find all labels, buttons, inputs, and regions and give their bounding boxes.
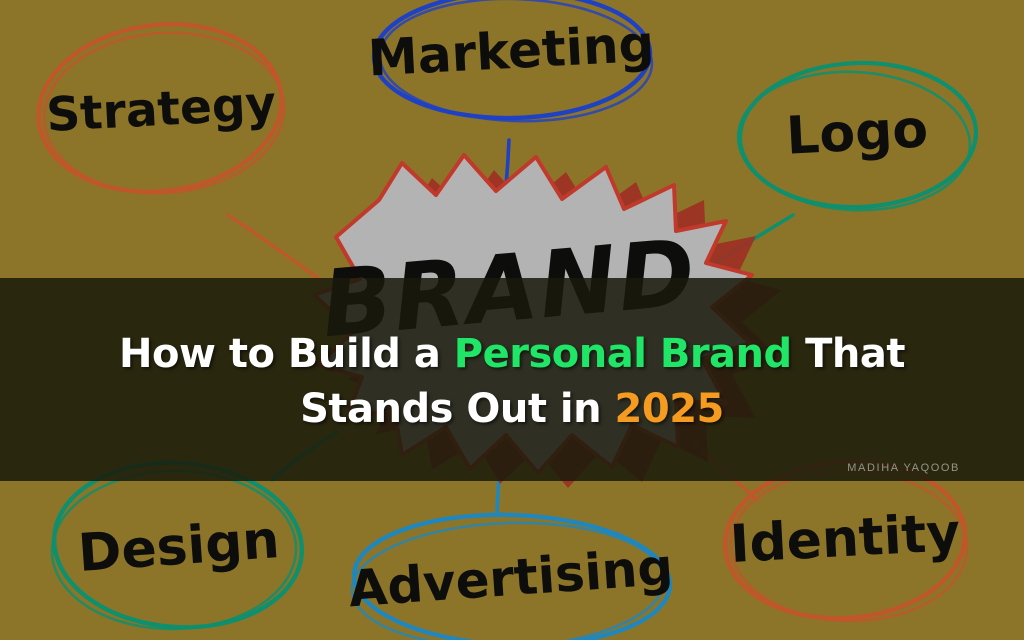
headline-highlight-year: 2025 (615, 386, 724, 432)
bubble-marketing: Marketing (367, 0, 656, 126)
bubble-strategy: Strategy (29, 11, 291, 205)
bubble-advertising-label: Advertising (347, 538, 675, 619)
headline-line-2: Stands Out in 2025 (300, 386, 724, 432)
headline-line1-part1: How to Build a (119, 331, 454, 377)
bubble-logo: Logo (735, 59, 979, 216)
connector-strategy (228, 215, 322, 281)
headline-highlight-personal-brand: Personal Brand (454, 331, 792, 377)
headline-line-1: How to Build a Personal Brand That (119, 331, 905, 377)
watermark-credit: MADIHA YAQOOB (847, 462, 960, 474)
bubble-design-label: Design (76, 510, 281, 584)
headline-line2-part1: Stands Out in (300, 386, 614, 432)
bubble-marketing-label: Marketing (367, 15, 656, 88)
bubble-design: Design (49, 455, 308, 636)
bubble-advertising: Advertising (347, 510, 675, 640)
headline-block: How to Build a Personal Brand That Stand… (0, 278, 1024, 481)
headline-line1-part2: That (792, 331, 905, 377)
banner-image: BRAND Strategy Marketing Logo Design (0, 0, 1024, 640)
bubble-logo-label: Logo (785, 99, 930, 166)
bubble-identity-label: Identity (729, 503, 962, 575)
bubble-strategy-label: Strategy (45, 76, 277, 143)
